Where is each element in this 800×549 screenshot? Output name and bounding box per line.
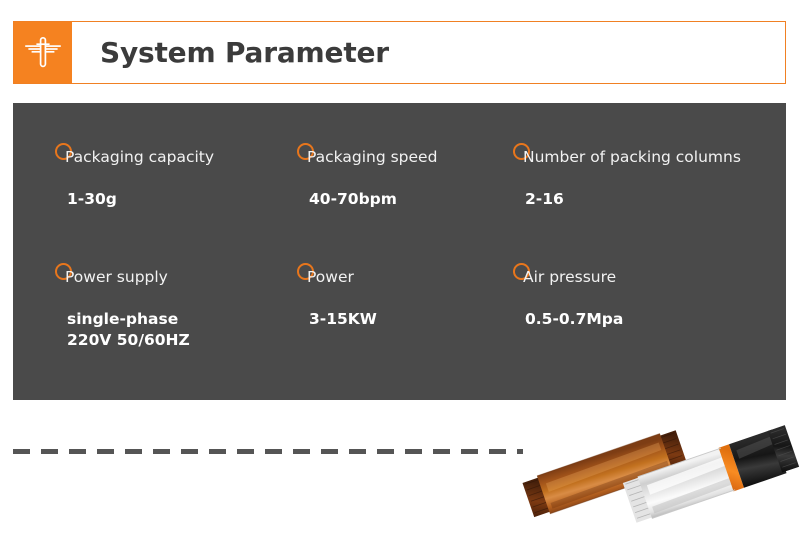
parameter-label: Power: [307, 269, 354, 286]
parameter-label: Number of packing columns: [523, 149, 741, 166]
parameter-value: 1-30g: [67, 189, 117, 210]
parameter-value: single-phase 220V 50/60HZ: [67, 309, 190, 350]
parameter-value: 0.5-0.7Mpa: [525, 309, 623, 330]
winged-emblem-icon: [22, 34, 64, 72]
parameter-value: 2-16: [525, 189, 564, 210]
system-parameter-panel: Packaging capacity 1-30g Packaging speed…: [13, 103, 786, 400]
parameter-value: 40-70bpm: [309, 189, 397, 210]
parameter-grid: Packaging capacity 1-30g Packaging speed…: [13, 103, 786, 400]
parameter-label: Packaging speed: [307, 149, 437, 166]
brand-logo-block: [14, 22, 72, 83]
product-sachet-images: [520, 412, 800, 549]
parameter-label: Power supply: [65, 269, 168, 286]
page-title: System Parameter: [100, 39, 389, 67]
dashed-divider: [13, 449, 523, 454]
parameter-value: 3-15KW: [309, 309, 377, 330]
parameter-label: Air pressure: [523, 269, 616, 286]
parameter-label: Packaging capacity: [65, 149, 214, 166]
page-header: System Parameter: [13, 21, 786, 84]
page-title-container: System Parameter: [72, 22, 785, 83]
